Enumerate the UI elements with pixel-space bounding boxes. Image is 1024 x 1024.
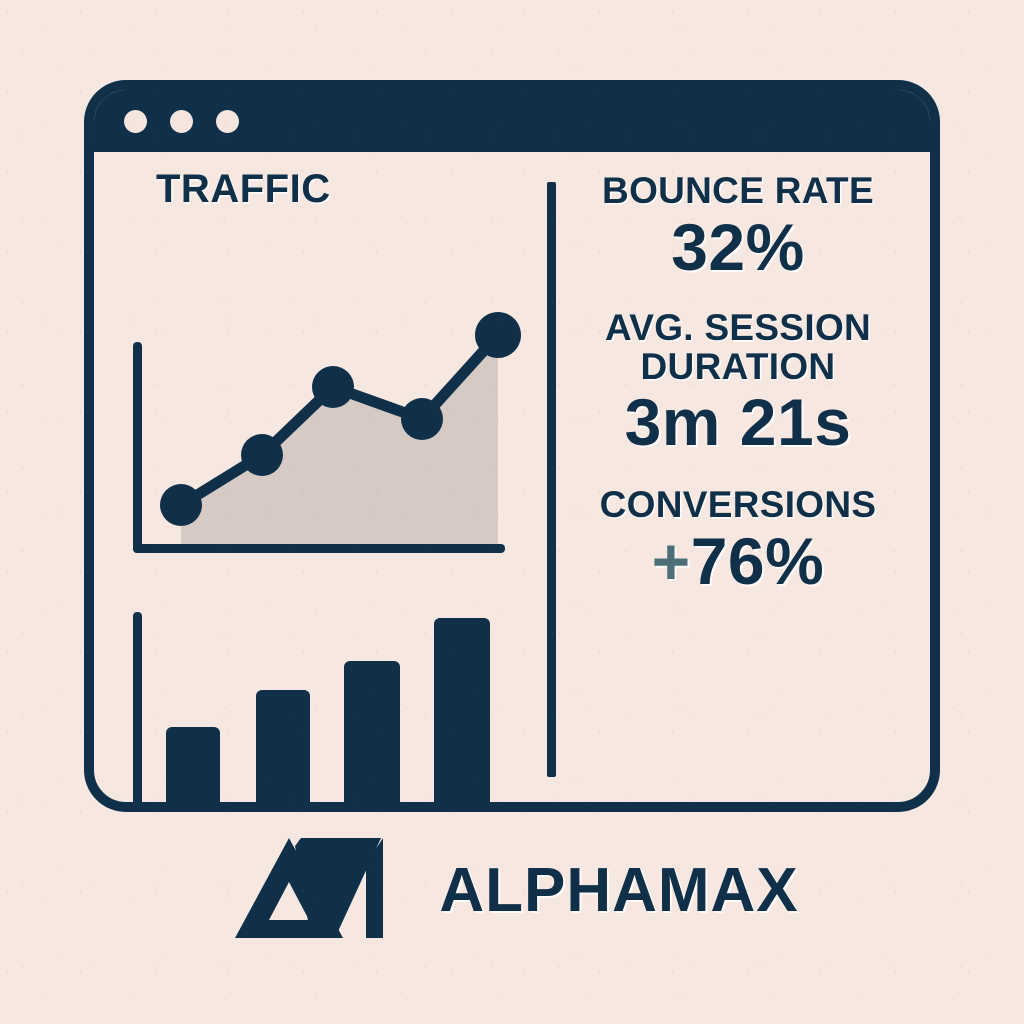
bar-chart-x-axis — [133, 807, 505, 812]
traffic-area-chart — [94, 152, 546, 572]
data-point — [475, 312, 521, 358]
metric-label: BOUNCE RATE — [546, 172, 930, 211]
data-point — [241, 434, 283, 476]
metric-value: 32% — [546, 211, 930, 285]
bar — [166, 727, 220, 812]
metric-label: CONVERSIONS — [546, 486, 930, 525]
metric-label-line-1: AVG. SESSION — [546, 309, 930, 348]
metric-value: 3m 21s — [546, 386, 930, 460]
metric-avg-session-duration: AVG. SESSION DURATION 3m 21s — [546, 309, 930, 461]
window-dot-close[interactable] — [124, 110, 147, 133]
brand-name: ALPHAMAX — [439, 855, 798, 926]
window-titlebar — [94, 90, 930, 152]
metric-value: 76% — [691, 524, 825, 598]
brand-footer: ALPHAMAX — [0, 834, 1024, 946]
data-point — [312, 366, 354, 408]
bar-chart-y-axis — [133, 612, 142, 812]
data-point — [160, 484, 202, 526]
dashboard-body: TRAFFIC — [94, 152, 930, 812]
bar — [434, 618, 490, 812]
metric-bounce-rate: BOUNCE RATE 32% — [546, 172, 930, 285]
alphamax-logo-icon — [225, 834, 405, 946]
y-axis — [133, 342, 142, 553]
metrics-panel: BOUNCE RATE 32% AVG. SESSION DURATION 3m… — [546, 152, 930, 812]
traffic-bar-chart — [94, 552, 546, 812]
metric-value-row: +76% — [546, 525, 930, 599]
bar — [344, 661, 400, 812]
bar — [256, 690, 310, 812]
window-dot-maximize[interactable] — [216, 110, 239, 133]
charts-panel: TRAFFIC — [94, 152, 546, 812]
metric-conversions: CONVERSIONS +76% — [546, 486, 930, 599]
window-dot-minimize[interactable] — [170, 110, 193, 133]
plus-sign-icon: + — [652, 524, 691, 598]
metric-label-line-2: DURATION — [546, 348, 930, 387]
data-point — [401, 398, 443, 440]
browser-window: TRAFFIC — [84, 80, 940, 812]
